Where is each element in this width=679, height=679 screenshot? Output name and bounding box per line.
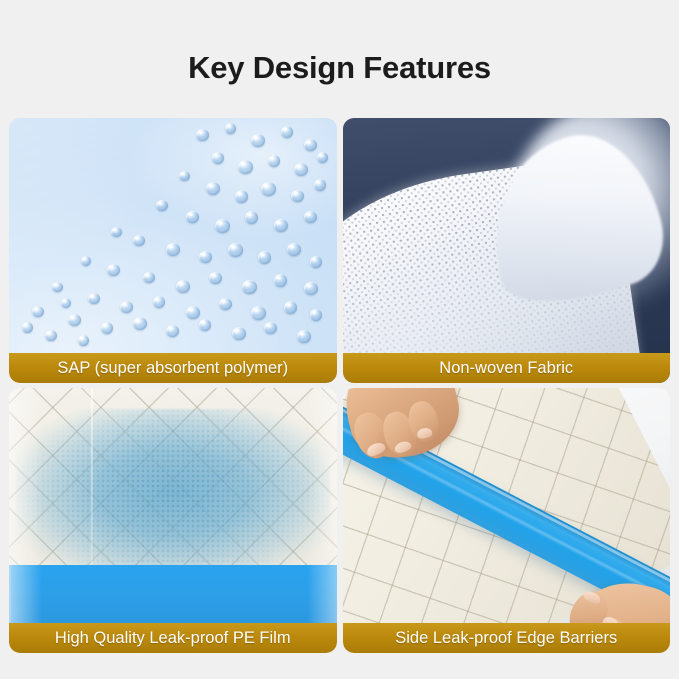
feature-card-edge-barriers[interactable]: Side Leak-proof Edge Barriers bbox=[343, 388, 671, 653]
infographic-page: Key Design Features bbox=[0, 0, 679, 679]
feature-caption: Non-woven Fabric bbox=[343, 353, 671, 383]
feature-card-non-woven[interactable]: Non-woven Fabric bbox=[343, 118, 671, 383]
pe-film-photo: High Quality Leak-proof PE Film bbox=[9, 388, 337, 653]
feature-grid: SAP (super absorbent polymer) Non-woven … bbox=[9, 118, 670, 653]
photo-sheen bbox=[343, 118, 671, 383]
feature-caption: SAP (super absorbent polymer) bbox=[9, 353, 337, 383]
non-woven-fabric-photo: Non-woven Fabric bbox=[343, 118, 671, 383]
page-title: Key Design Features bbox=[0, 50, 679, 86]
feature-caption: High Quality Leak-proof PE Film bbox=[9, 623, 337, 653]
photo-vignette bbox=[9, 388, 337, 653]
feature-caption: Side Leak-proof Edge Barriers bbox=[343, 623, 671, 653]
feature-card-sap[interactable]: SAP (super absorbent polymer) bbox=[9, 118, 337, 383]
sap-beads-photo: SAP (super absorbent polymer) bbox=[9, 118, 337, 383]
sap-bead-cluster bbox=[9, 118, 337, 383]
edge-barrier-photo: Side Leak-proof Edge Barriers bbox=[343, 388, 671, 653]
feature-card-pe-film[interactable]: High Quality Leak-proof PE Film bbox=[9, 388, 337, 653]
